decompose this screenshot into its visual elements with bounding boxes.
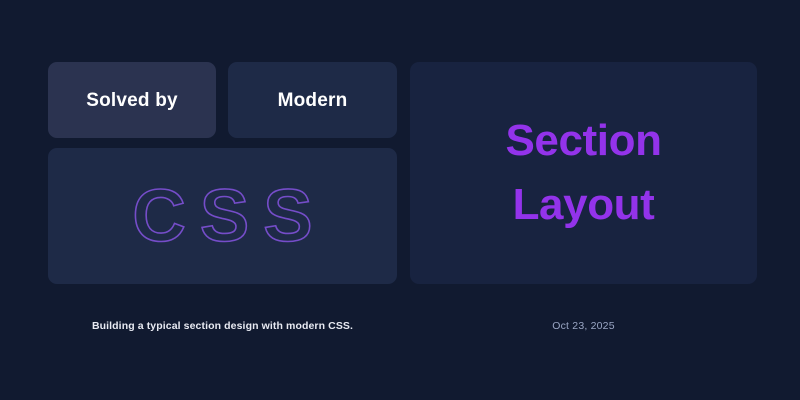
footer-caption: Building a typical section design with m… (48, 320, 397, 332)
right-panel[interactable]: Section Layout (410, 62, 757, 284)
card-modern[interactable]: Modern (228, 62, 397, 138)
panel-title-line-2: Layout (505, 173, 661, 237)
top-card-row: Solved by Modern (48, 62, 397, 138)
footer-date: Oct 23, 2025 (410, 320, 757, 332)
panel-title: Section Layout (505, 109, 661, 237)
card-modern-label: Modern (278, 91, 348, 110)
panel-title-line-1: Section (505, 109, 661, 173)
left-column: Solved by Modern CSS (48, 62, 397, 284)
section-container: Solved by Modern CSS Section Layout (48, 62, 757, 284)
card-solved-by-label: Solved by (86, 91, 178, 110)
css-outline-text: CSS (118, 179, 326, 253)
footer-row: Building a typical section design with m… (48, 312, 757, 340)
card-css-feature[interactable]: CSS (48, 148, 397, 284)
card-solved-by[interactable]: Solved by (48, 62, 216, 138)
